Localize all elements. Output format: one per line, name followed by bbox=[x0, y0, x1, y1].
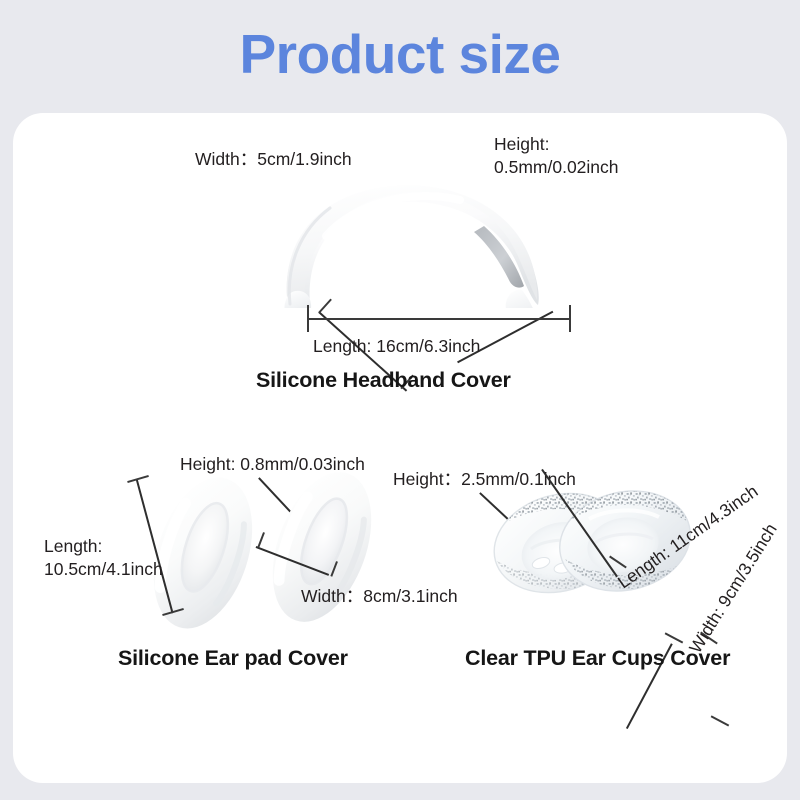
headband-shape bbox=[270, 178, 570, 308]
earpad-length-label-line1: Length: bbox=[44, 535, 163, 558]
headband-caption: Silicone Headband Cover bbox=[256, 368, 511, 393]
earpad-caption: Silicone Ear pad Cover bbox=[118, 646, 348, 671]
tpucups-caption: Clear TPU Ear Cups Cover bbox=[465, 646, 730, 671]
headband-illustration bbox=[270, 178, 570, 308]
earpad-length-label-line2: 10.5cm/4.1inch bbox=[44, 558, 163, 581]
headband-length-tick-left bbox=[307, 305, 309, 332]
headband-length-line bbox=[307, 318, 571, 320]
tpucups-width-tick-start bbox=[665, 632, 683, 643]
product-size-infographic: Product size Width：5cm/1.9inch Height: 0… bbox=[0, 0, 800, 800]
tpucups-width-tick-end bbox=[711, 715, 729, 726]
headband-length-tick-right bbox=[569, 305, 571, 332]
headband-height-label-line2: 0.5mm/0.02inch bbox=[494, 156, 619, 179]
earpad-width-label: Width：8cm/3.1inch bbox=[301, 585, 458, 608]
content-card: Width：5cm/1.9inch Height: 0.5mm/0.02inch bbox=[13, 113, 787, 783]
headband-length-label: Length: 16cm/6.3inch bbox=[313, 335, 480, 358]
headband-width-label: Width：5cm/1.9inch bbox=[195, 148, 352, 171]
headband-height-label-line1: Height: bbox=[494, 133, 619, 156]
headband-height-label: Height: 0.5mm/0.02inch bbox=[494, 133, 619, 179]
earpad-length-label: Length: 10.5cm/4.1inch bbox=[44, 535, 163, 581]
page-title: Product size bbox=[0, 26, 800, 84]
